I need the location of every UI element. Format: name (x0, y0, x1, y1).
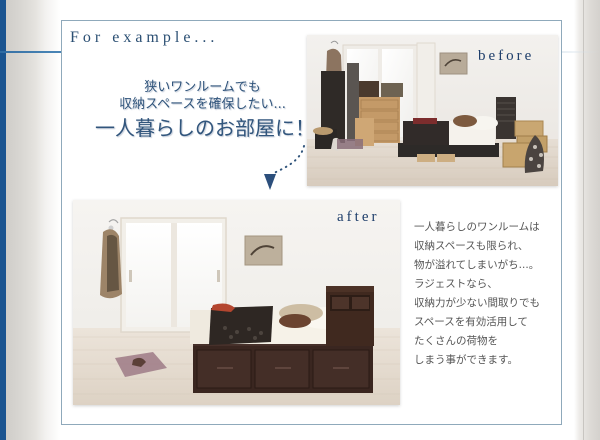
body-copy-line: 物が溢れてしまいがち...。 (414, 256, 564, 275)
headline-line-2: 収納スペースを確保したい... (95, 96, 310, 113)
body-copy-line: スペースを有効活用して (414, 313, 564, 332)
label-after: after (337, 209, 379, 226)
body-copy-line: たくさんの荷物を (414, 332, 564, 351)
body-copy-line: 一人暮らしのワンルームは (414, 218, 564, 237)
label-before: before (478, 48, 534, 65)
left-edge-gradient (6, 0, 46, 440)
headline-block: 狭いワンルームでも 収納スペースを確保したい... 一人暮らしのお部屋に！ (95, 79, 310, 142)
photo-after (73, 200, 400, 405)
body-copy: 一人暮らしのワンルームは 収納スペースも限られ、 物が溢れてしまいがち...。 … (414, 218, 564, 370)
right-edge-gradient (574, 0, 600, 440)
headline-line-1: 狭いワンルームでも (95, 79, 310, 96)
headline-line-3: 一人暮らしのお部屋に！ (95, 114, 310, 142)
body-copy-line: しまう事ができます。 (414, 351, 564, 370)
promo-page: For example... 狭いワンルームでも 収納スペースを確保したい...… (0, 0, 600, 440)
left-edge-fade (46, 0, 60, 440)
page-title: For example... (70, 29, 218, 47)
body-copy-line: ラジェストなら、 (414, 275, 564, 294)
dotted-curved-down-arrow-icon (246, 140, 308, 198)
photo-after-image (73, 200, 400, 405)
right-edge-separator (583, 0, 584, 440)
body-copy-line: 収納スペースも限られ、 (414, 237, 564, 256)
body-copy-line: 収納力が少ない間取りでも (414, 294, 564, 313)
